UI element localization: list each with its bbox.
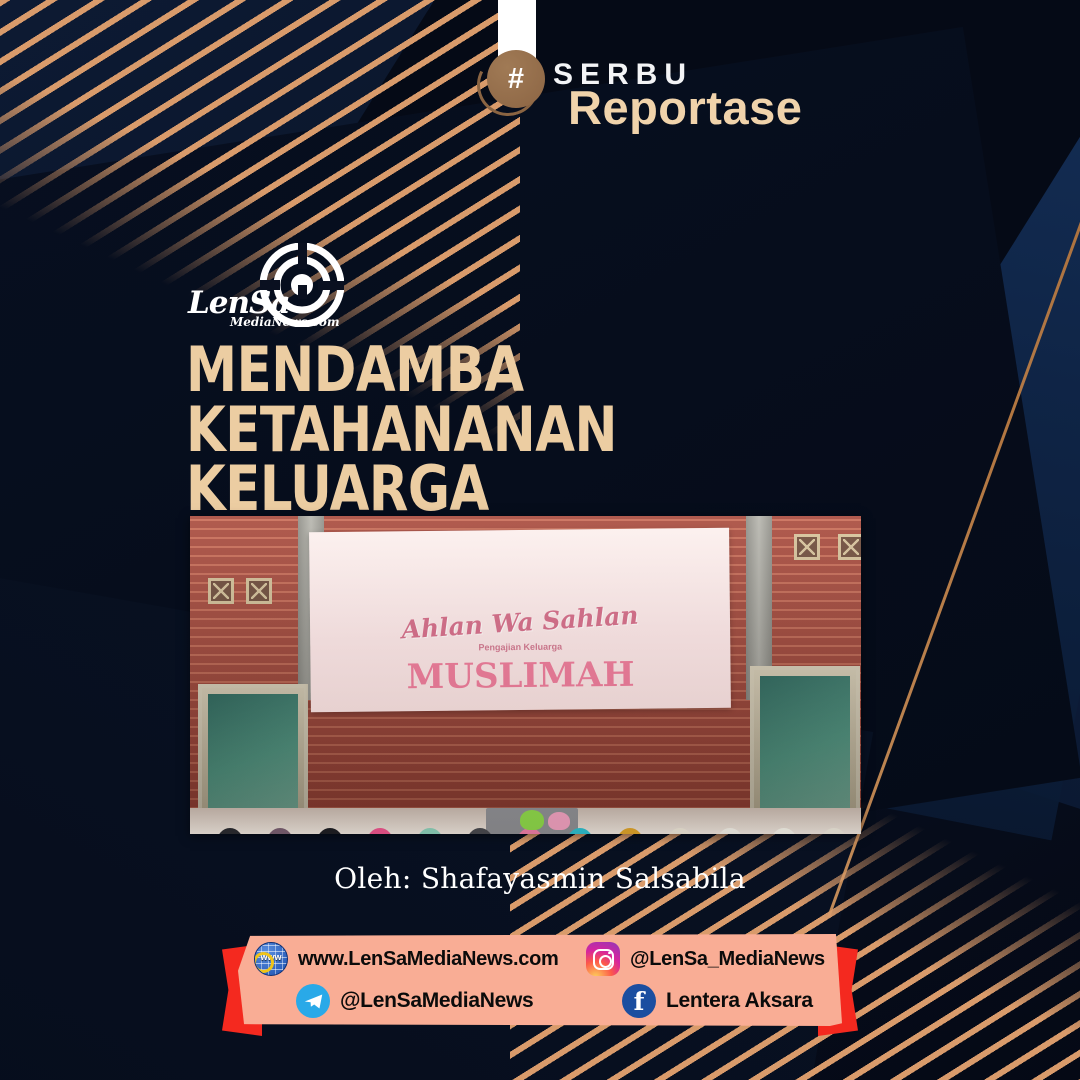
website-label: www.LenSaMediaNews.com [298,948,559,971]
brand-logo: LenSa MediaNews.com [188,243,344,339]
social-item-website[interactable]: www www.LenSaMediaNews.com [254,942,586,976]
facebook-glyph: f [634,989,645,1014]
photo-overlay [190,516,861,834]
telegram-icon [296,984,330,1018]
ribbon-row-top: www www.LenSaMediaNews.com @LenSa_MediaN… [254,942,826,976]
page-title: MENDAMBA KETAHANANAN KELUARGA [186,340,848,519]
social-item-facebook[interactable]: f Lentera Aksara [586,984,813,1018]
footer-social-ribbon: www www.LenSaMediaNews.com @LenSa_MediaN… [222,934,858,1038]
hash-icon: # [508,65,524,94]
facebook-name: Lentera Aksara [666,989,813,1013]
social-item-telegram[interactable]: @LenSaMediaNews [254,984,586,1018]
telegram-handle: @LenSaMediaNews [340,989,533,1013]
globe-icon: www [254,942,288,976]
instagram-handle: @LenSa_MediaNews [630,948,825,971]
globe-icon-label: www [255,952,287,962]
poster-canvas: # SERBU Reportase LenSa MediaNews.com ME… [0,0,1080,1080]
instagram-icon [586,942,620,976]
social-item-instagram[interactable]: @LenSa_MediaNews [586,942,825,976]
ribbon-row-bottom: @LenSaMediaNews f Lentera Aksara [254,984,826,1018]
hashtag-badge: # [483,50,547,114]
badge-circle: # [487,50,545,108]
author-byline: Oleh: Shafayasmin Salsabila [0,862,1080,895]
logo-sub-wordmark: MediaNews.com [230,315,340,329]
article-photo: Ahlan Wa Sahlan Pengajian Keluarga MUSLI… [190,516,861,834]
facebook-icon: f [622,984,656,1018]
ribbon-content: www www.LenSaMediaNews.com @LenSa_MediaN… [238,934,842,1026]
header-title-reportase: Reportase [568,80,802,135]
